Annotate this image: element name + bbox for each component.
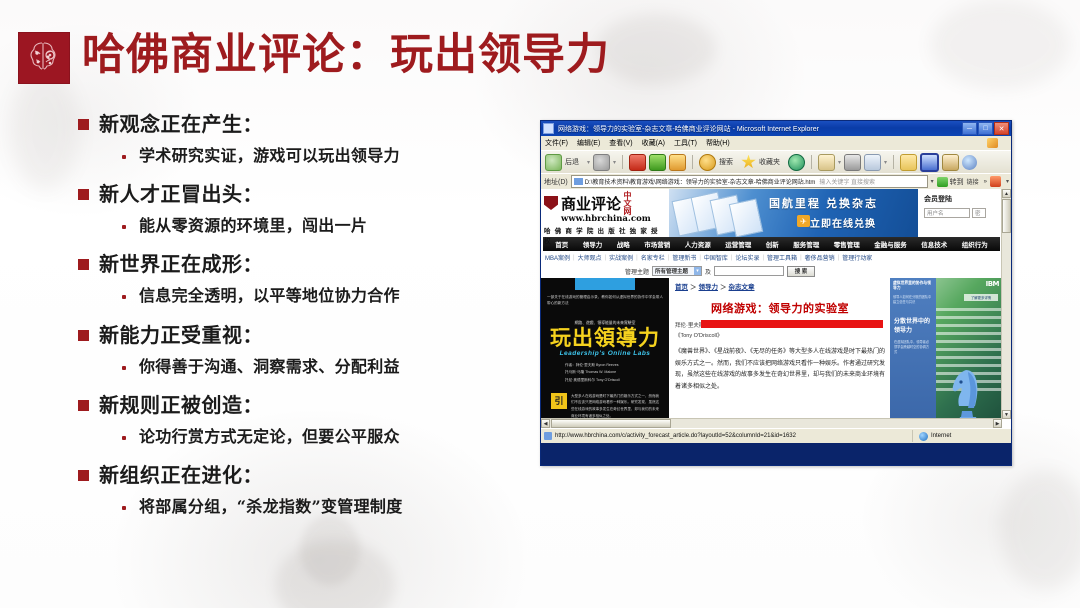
bullet-group: 新组织正在进化： 将部属分组，“杀龙指数”变管理制度 <box>78 461 548 518</box>
topic-select-value: 所有管理主题 <box>655 267 688 275</box>
background-texture <box>1000 470 1080 590</box>
ad-cta-button[interactable]: 了解更多详情 <box>964 294 998 301</box>
toolbar-overflow-icon[interactable]: ▾ <box>1006 178 1011 185</box>
go-button[interactable]: 转到 <box>937 177 964 187</box>
back-label: 后退 <box>565 157 579 167</box>
zone-label: Internet <box>931 433 951 439</box>
stop-icon[interactable] <box>629 154 646 171</box>
security-zone[interactable]: Internet <box>913 432 1011 441</box>
globe-icon <box>919 432 928 441</box>
article-author: 拜伦·里夫斯 <box>675 323 704 329</box>
browser-toolbar: 后退 ▾ ▾ 搜索 收藏夹 ▾ ▾ <box>541 150 1011 173</box>
book-quote-block: 引 大型多人在线游戏是时下最热门的娱乐方式之一，然而我们不应该只把网络游戏看作一… <box>551 393 659 419</box>
links-overflow-icon[interactable]: » <box>984 179 987 185</box>
bullet-sub: 将部属分组，“杀龙指数”变管理制度 <box>122 495 548 518</box>
article-body: 《魔兽世界》、《星战前夜》、《无尽的任务》等大型多人在线游戏是时下最热门的娱乐方… <box>675 347 885 394</box>
bullet-sub: 论功行赏方式无定论，但要公平服众 <box>122 425 548 448</box>
page-content: 商业评论 中文网 www.hbrchina.com 哈 佛 商 学 院 出 版 … <box>541 189 1002 419</box>
menu-view[interactable]: 查看(V) <box>609 138 632 148</box>
menu-file[interactable]: 文件(F) <box>545 138 568 148</box>
page-title: 哈佛商业评论：玩出领导力 <box>82 20 610 82</box>
site-header: 商业评论 中文网 www.hbrchina.com 哈 佛 商 学 院 出 版 … <box>541 189 1002 237</box>
bullet-heading-text: 新能力正受重视： <box>99 321 263 350</box>
scroll-down-arrow[interactable]: ▼ <box>1002 410 1011 419</box>
media-icon[interactable] <box>788 154 805 171</box>
bullet-heading-text: 新组织正在进化： <box>99 461 263 490</box>
address-value: D:\教育技术资料\教育游戏\网络游戏：领导力的实验室-杂志文章-哈佛商业评论网… <box>585 177 816 186</box>
nav-item-it[interactable]: 信息技术 <box>921 239 947 249</box>
folder-icon[interactable] <box>900 154 917 171</box>
subnav-item-books[interactable]: 管理新书 <box>672 253 696 262</box>
bullet-sub-text: 你得善于沟通、洞察需求、分配利益 <box>139 355 400 378</box>
subnav-item-columns[interactable]: 名家专栏 <box>641 253 665 262</box>
subnav-item-forum[interactable]: 论坛实录 <box>735 253 759 262</box>
book-cover-panel: 一部关于在线游戏的管理启示录，教你如何从虚拟世界的协作中学会带人带心的新方法 網… <box>541 278 669 419</box>
dot-bullet-icon <box>122 155 126 159</box>
search-label: 管理主题 <box>625 267 649 276</box>
book-author-3: 托尼·奥德里斯科尔 Tony O'Driscoll <box>541 377 669 385</box>
link-icon <box>544 432 552 440</box>
site-url: www.hbrchina.com <box>561 214 669 224</box>
toolbar-separator <box>811 155 812 169</box>
nav-item-marketing[interactable]: 市场营销 <box>644 239 670 249</box>
square-bullet-icon <box>78 259 89 270</box>
site-badge: 中文网 <box>623 191 631 215</box>
nav-item-orgbehavior[interactable]: 组织行为 <box>962 239 988 249</box>
search-joiner: 及 <box>705 267 711 276</box>
breadcrumb-current: 杂志文章 <box>729 284 755 291</box>
subnav-divider: | <box>605 255 607 261</box>
harvard-shield-icon <box>544 196 558 210</box>
article-byline: 拜伦·里夫斯 <box>675 321 885 329</box>
dot-bullet-icon <box>122 506 126 510</box>
nav-item-operations[interactable]: 运营管理 <box>725 239 751 249</box>
airplane-icon: ✈ <box>797 215 810 227</box>
ie-logo-icon <box>987 138 998 148</box>
subnav-item-thinktank[interactable]: 中国智库 <box>704 253 728 262</box>
book-author-1: 作者：拜伦·里夫斯 Byron Reeves <box>541 362 669 370</box>
dot-bullet-icon <box>122 366 126 370</box>
status-url-area: http://www.hbrchina.com/c/activity_forec… <box>541 430 913 442</box>
mail-dropdown-icon[interactable]: ▾ <box>838 159 841 166</box>
menu-favorites[interactable]: 收藏(A) <box>642 138 665 148</box>
go-label: 转到 <box>950 177 964 187</box>
bullet-sub-text: 学术研究实证，游戏可以玩出领导力 <box>139 144 400 167</box>
back-dropdown-icon[interactable]: ▾ <box>587 159 590 166</box>
bullet-heading: 新规则正被创造： <box>78 391 548 420</box>
nav-item-home[interactable]: 首页 <box>555 239 568 249</box>
bullet-heading-text: 新人才正冒出头： <box>99 180 263 209</box>
browser-window-title: 网络游戏：领导力的实验室-杂志文章-哈佛商业评论网站 - Microsoft I… <box>556 124 962 134</box>
bullet-sub: 你得善于沟通、洞察需求、分配利益 <box>122 355 548 378</box>
square-bullet-icon <box>78 189 89 200</box>
magazine-stack-icon <box>675 192 767 234</box>
chess-knight-icon <box>946 362 986 419</box>
go-arrow-icon <box>937 177 948 187</box>
article-byline-secondary: 《Tony O'Driscoll》 <box>675 331 885 339</box>
site-name: 商业评论 <box>561 193 621 214</box>
dot-bullet-icon <box>122 295 126 299</box>
discuss-icon[interactable] <box>920 153 939 172</box>
banner-headline: 国航里程 兑换杂志 <box>769 195 878 211</box>
ad-subtext: 领导人如何在分散的团队中建立信任与共识 <box>890 291 936 304</box>
ad-body: 在虚拟团队中，领导者必须学会跨越时空的协调方式 <box>890 336 936 355</box>
browser-title-bar: 网络游戏：领导力的实验室-杂志文章-哈佛商业评论网站 - Microsoft I… <box>541 121 1011 136</box>
bullet-sub-text: 论功行赏方式无定论，但要公平服众 <box>139 425 400 448</box>
breadcrumb-home[interactable]: 首页 <box>675 284 688 291</box>
edit-icon[interactable] <box>864 154 881 171</box>
bullet-heading-text: 新规则正被创造： <box>99 391 263 420</box>
square-bullet-icon <box>78 400 89 411</box>
nav-item-retail[interactable]: 零售管理 <box>834 239 860 249</box>
page-horizontal-scrollbar[interactable]: ◀ ▶ <box>541 418 1002 428</box>
close-button[interactable]: ✕ <box>994 122 1009 135</box>
bullet-sub: 学术研究实证，游戏可以玩出领导力 <box>122 144 548 167</box>
bullet-heading: 新世界正在成形： <box>78 250 548 279</box>
scroll-up-arrow[interactable]: ▲ <box>1002 189 1011 198</box>
breadcrumb-sep: ＞ <box>720 284 727 291</box>
subnav-item-masters[interactable]: 大师观点 <box>578 253 602 262</box>
book-quote-text: 大型多人在线游戏是时下最热门的娱乐方式之一，然而我们不应该只把网络游戏看作一种娱… <box>571 393 659 419</box>
home-icon[interactable] <box>669 154 686 171</box>
subnav-divider: | <box>699 255 701 261</box>
nav-item-finance[interactable]: 金融与服务 <box>874 239 907 249</box>
page-columns: 一部关于在线游戏的管理启示录，教你如何从虚拟世界的协作中学会带人带心的新方法 網… <box>541 278 1002 419</box>
favorites-icon[interactable] <box>741 155 756 170</box>
quote-badge: 引 <box>551 393 567 409</box>
subnav-item-toolbox[interactable]: 管理工具箱 <box>767 253 797 262</box>
subnav-item-luxury[interactable]: 奢侈品营销 <box>805 253 835 262</box>
book-top-text: 一部关于在线游戏的管理启示录，教你如何从虚拟世界的协作中学会带人带心的新方法 <box>541 290 669 307</box>
book-author-2: 托马斯·马隆 Thomas W. Malone <box>541 369 669 377</box>
breadcrumb-sep: ＞ <box>690 284 697 291</box>
minimize-button[interactable]: － <box>962 122 977 135</box>
bullet-group: 新观念正在产生： 学术研究实证，游戏可以玩出领导力 <box>78 110 548 167</box>
nav-item-service[interactable]: 服务管理 <box>793 239 819 249</box>
address-label: 地址(D) <box>544 177 568 187</box>
scroll-left-arrow[interactable]: ◀ <box>541 419 550 428</box>
bullet-sub: 能从零资源的环境里，闯出一片 <box>122 214 548 237</box>
bullet-heading: 新观念正在产生： <box>78 110 548 139</box>
menu-tools[interactable]: 工具(T) <box>674 138 697 148</box>
scroll-right-arrow[interactable]: ▶ <box>993 419 1002 428</box>
square-bullet-icon <box>78 119 89 130</box>
bullet-group: 新人才正冒出头： 能从零资源的环境里，闯出一片 <box>78 180 548 237</box>
back-icon[interactable] <box>545 154 562 171</box>
maximize-button[interactable]: □ <box>978 122 993 135</box>
brain-logo-icon <box>18 32 70 84</box>
slide: 哈佛商业评论：玩出领导力 新观念正在产生： 学术研究实证，游戏可以玩出领导力 新… <box>0 0 1080 608</box>
subnav-divider: | <box>762 255 764 261</box>
ie-app-icon <box>543 123 554 134</box>
bullet-heading: 新人才正冒出头： <box>78 180 548 209</box>
subnav-divider: | <box>800 255 802 261</box>
bullet-heading: 新组织正在进化： <box>78 461 548 490</box>
address-input[interactable]: D:\教育技术资料\教育游戏\网络游戏：领导力的实验室-杂志文章-哈佛商业评论网… <box>571 175 928 188</box>
menu-bar: 文件(F) 编辑(E) 查看(V) 收藏(A) 工具(T) 帮助(H) <box>541 136 1011 150</box>
page-viewport: 商业评论 中文网 www.hbrchina.com 哈 佛 商 学 院 出 版 … <box>541 189 1011 428</box>
page-file-icon <box>574 178 583 185</box>
book-title-en: Leadership's Online Labs <box>541 350 669 357</box>
sidebar-ad[interactable]: 虚拟世界里的协作与领导力 领导人如何在分散的团队中建立信任与共识 分散世界中的领… <box>890 278 1002 419</box>
subnav-divider: | <box>636 255 638 261</box>
search-button[interactable]: 搜 索 <box>787 266 815 277</box>
search-label: 搜索 <box>719 157 733 167</box>
ibm-logo: IBM <box>986 280 999 288</box>
nav-item-innovation[interactable]: 创新 <box>766 239 779 249</box>
ad-text-panel: 虚拟世界里的协作与领导力 领导人如何在分散的团队中建立信任与共识 分散世界中的领… <box>890 278 936 419</box>
pdf-toolbar-icon[interactable] <box>990 176 1001 187</box>
username-input[interactable]: 用户名 <box>924 208 970 218</box>
subnav-divider: | <box>573 255 575 261</box>
breadcrumb-leadership[interactable]: 领导力 <box>699 284 719 291</box>
dot-bullet-icon <box>122 225 126 229</box>
toolbar-separator <box>893 155 894 169</box>
square-bullet-icon <box>78 470 89 481</box>
subnav-divider: | <box>838 255 840 261</box>
subnav-divider: | <box>731 255 733 261</box>
bullet-sub: 信息完全透明，以平等地位协力合作 <box>122 284 548 307</box>
forward-icon[interactable] <box>593 154 610 171</box>
window-controls: － □ ✕ <box>962 122 1009 135</box>
research-icon[interactable] <box>962 155 977 170</box>
mail-icon[interactable] <box>818 154 835 171</box>
bullet-group: 新世界正在成形： 信息完全透明，以平等地位协力合作 <box>78 250 548 307</box>
site-logo[interactable]: 商业评论 中文网 www.hbrchina.com 哈 佛 商 学 院 出 版 … <box>541 189 669 237</box>
messenger-icon[interactable] <box>942 154 959 171</box>
menu-help[interactable]: 帮助(H) <box>706 138 730 148</box>
nav-item-leadership[interactable]: 领导力 <box>583 239 603 249</box>
search-icon[interactable] <box>699 154 716 171</box>
bullet-sub-text: 信息完全透明，以平等地位协力合作 <box>139 284 400 307</box>
subnav-item-action[interactable]: 管理行动家 <box>842 253 872 262</box>
horizontal-scroll-thumb[interactable] <box>551 419 671 428</box>
subnav-item-cases[interactable]: 实战案例 <box>609 253 633 262</box>
ad-headline: 分散世界中的领导力 <box>890 304 936 336</box>
nav-item-hr[interactable]: 人力资源 <box>685 239 711 249</box>
browser-window-screenshot: 网络游戏：领导力的实验室-杂志文章-哈佛商业评论网站 - Microsoft I… <box>540 120 1012 466</box>
browser-status-bar: http://www.hbrchina.com/c/activity_forec… <box>541 428 1011 443</box>
address-bar: 地址(D) D:\教育技术资料\教育游戏\网络游戏：领导力的实验室-杂志文章-哈… <box>541 173 1011 189</box>
refresh-icon[interactable] <box>649 154 666 171</box>
ad-eyebrow: 虚拟世界里的协作与领导力 <box>890 278 936 291</box>
page-vertical-scrollbar[interactable]: ▲ ▼ <box>1001 189 1011 419</box>
redaction-highlight <box>701 320 883 328</box>
status-url: http://www.hbrchina.com/c/activity_forec… <box>555 433 796 439</box>
browser-chrome: 文件(F) 编辑(E) 查看(V) 收藏(A) 工具(T) 帮助(H) 后退 ▾… <box>541 136 1011 443</box>
password-input[interactable]: 密 <box>972 208 986 218</box>
nav-item-strategy[interactable]: 战略 <box>617 239 630 249</box>
slide-header: 哈佛商业评论：玩出领导力 <box>0 22 1080 92</box>
background-texture <box>275 540 395 608</box>
forward-dropdown-icon[interactable]: ▾ <box>613 159 616 166</box>
print-icon[interactable] <box>844 154 861 171</box>
bullet-sub-text: 将部属分组，“杀龙指数”变管理制度 <box>139 495 403 518</box>
vertical-scroll-thumb[interactable] <box>1002 199 1011 233</box>
banner-cta: 立即在线兑换 <box>810 215 876 230</box>
subnav-divider: | <box>668 255 670 261</box>
member-login-box: 会员登陆 用户名 密 <box>918 189 1002 237</box>
bullet-heading-text: 新观念正在产生： <box>99 110 263 139</box>
bullet-heading-text: 新世界正在成形： <box>99 250 263 279</box>
bullet-sub-text: 能从零资源的环境里，闯出一片 <box>139 214 367 237</box>
search-input[interactable] <box>714 266 784 276</box>
book-top-band <box>575 278 635 290</box>
bullet-list: 新观念正在产生： 学术研究实证，游戏可以玩出领导力 新人才正冒出头： 能从零资源… <box>78 110 548 531</box>
dot-bullet-icon <box>122 436 126 440</box>
address-dropdown-icon[interactable]: ▾ <box>931 178 934 185</box>
subnav-item-mba[interactable]: MBA案例 <box>545 253 570 262</box>
toolbar-separator <box>622 155 623 169</box>
bullet-group: 新规则正被创造： 论功行赏方式无定论，但要公平服众 <box>78 391 548 448</box>
bullet-group: 新能力正受重视： 你得善于沟通、洞察需求、分配利益 <box>78 321 548 378</box>
address-hint: 输入关键字 直接搜索 <box>819 177 875 186</box>
login-title: 会员登陆 <box>924 194 998 204</box>
toolbar-separator <box>692 155 693 169</box>
chevron-down-icon: ▾ <box>694 267 701 275</box>
menu-edit[interactable]: 编辑(E) <box>577 138 600 148</box>
breadcrumb: 首页＞领导力＞杂志文章 <box>675 281 885 291</box>
favorites-label: 收藏夹 <box>759 157 780 167</box>
sub-nav: MBA案例| 大师观点| 实战案例| 名家专栏| 管理新书| 中国智库| 论坛实… <box>541 251 1002 264</box>
square-bullet-icon <box>78 330 89 341</box>
edit-dropdown-icon[interactable]: ▾ <box>884 159 887 166</box>
bullet-heading: 新能力正受重视： <box>78 321 548 350</box>
search-row: 管理主题 所有管理主题 ▾ 及 搜 索 <box>541 264 1002 278</box>
article-title: 网络游戏：领导力的实验室 <box>675 300 885 316</box>
links-label[interactable]: 链接 <box>967 177 981 186</box>
promo-banner[interactable]: 国航里程 兑换杂志 ✈ 立即在线兑换 <box>669 189 918 237</box>
topic-select[interactable]: 所有管理主题 ▾ <box>652 266 702 276</box>
article-panel: 首页＞领导力＞杂志文章 网络游戏：领导力的实验室 拜伦·里夫斯 《Tony O'… <box>669 278 890 419</box>
book-title-cn: 玩出領導力 <box>541 327 669 348</box>
